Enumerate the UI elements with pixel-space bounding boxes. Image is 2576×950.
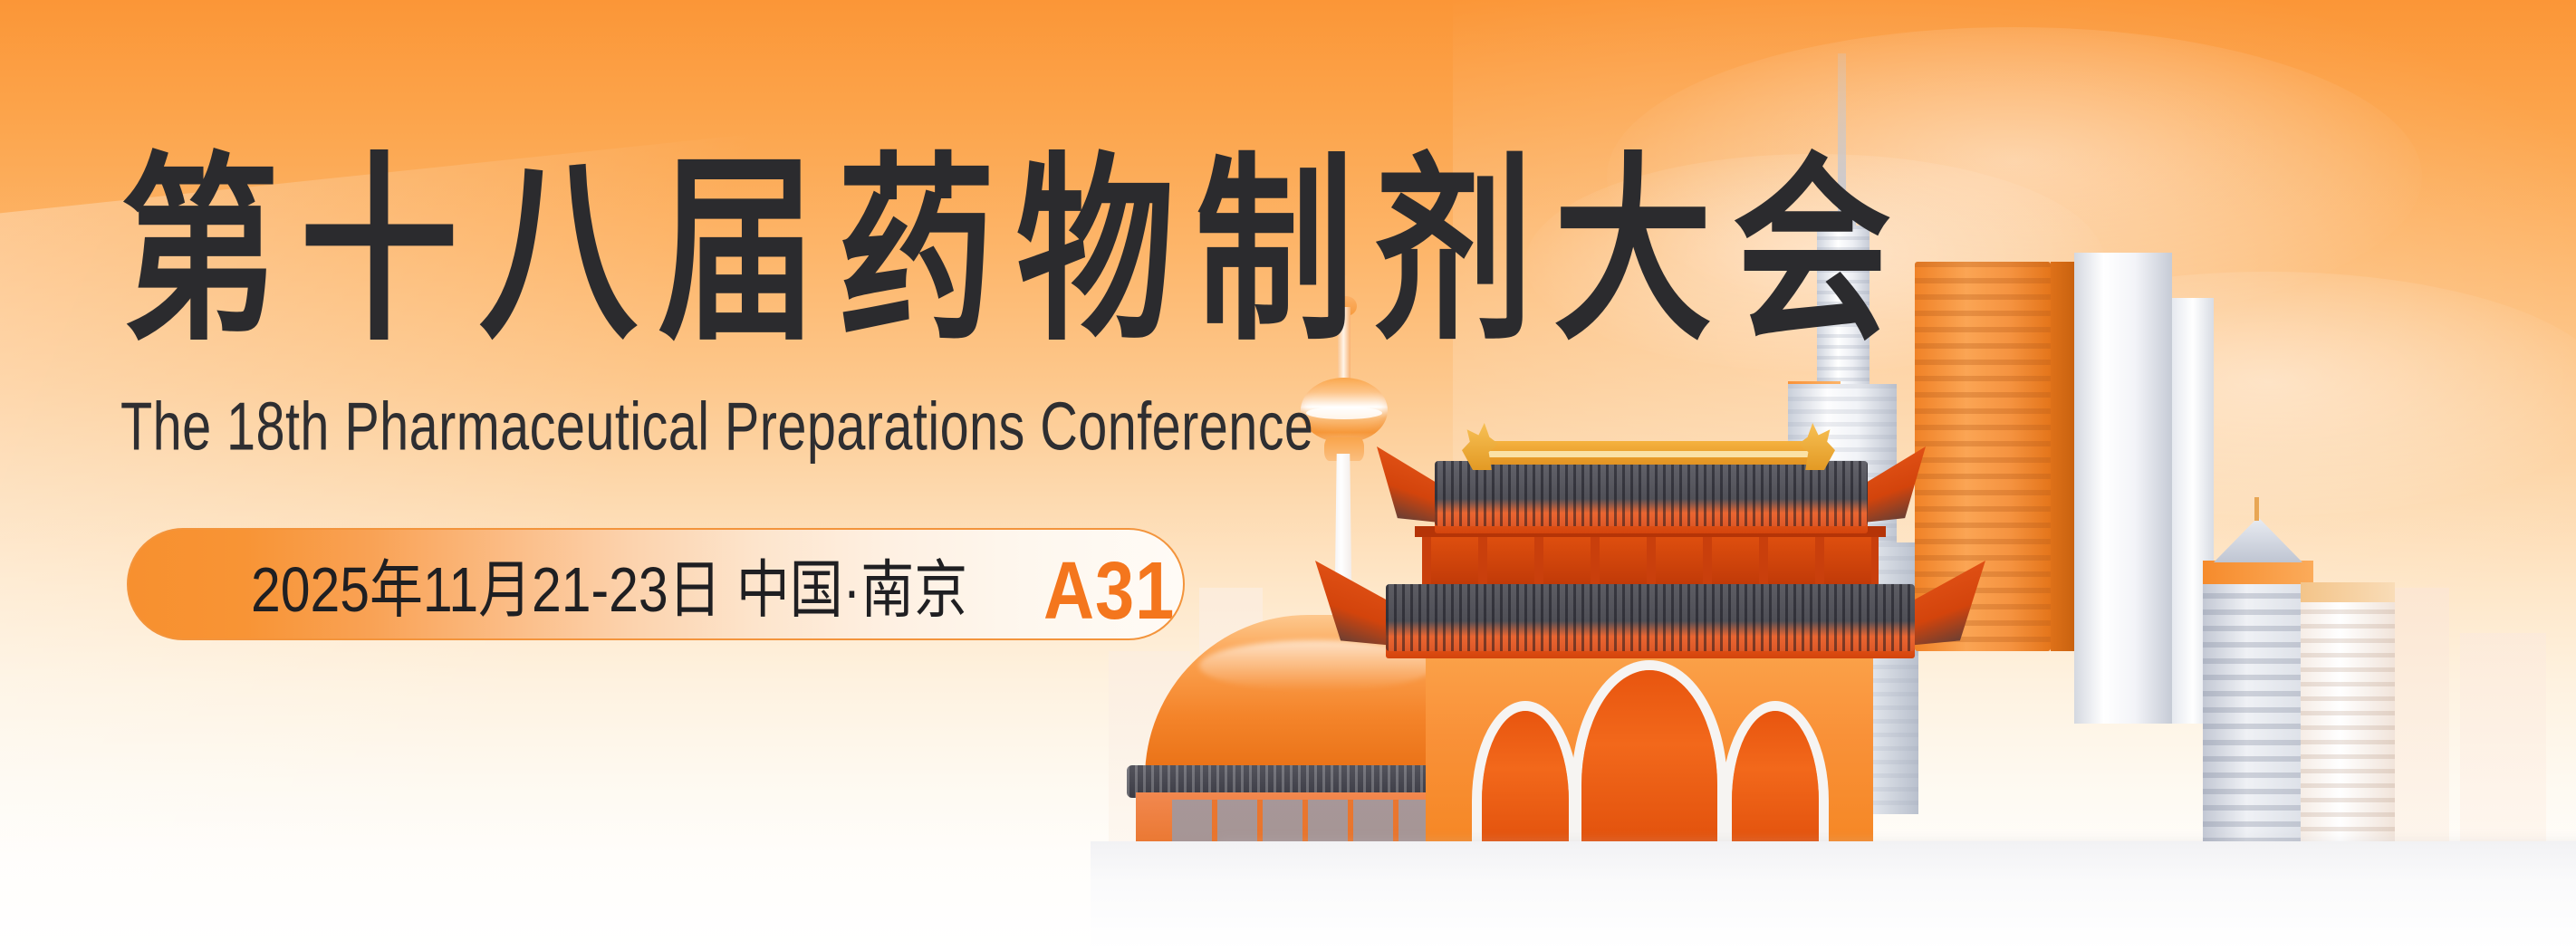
- background-building: [2460, 633, 2546, 850]
- right-dome-roof: [2150, 649, 2576, 791]
- page-subtitle: The 18th Pharmaceutical Preparations Con…: [120, 393, 1313, 461]
- white-tower: [2074, 253, 2172, 724]
- event-date-location-text: 2025年11月21-23日 中国·南京: [251, 539, 967, 630]
- background-building: [2350, 588, 2449, 850]
- cream-tower-cap: [2301, 582, 2395, 602]
- grey-tower-roof: [2214, 517, 2302, 562]
- temple-lower-eave-right: [1888, 561, 1985, 648]
- white-tower-slim: [2172, 298, 2214, 724]
- page-title: 第十八届药物制剂大会: [120, 152, 1912, 352]
- booth-number-text: A31展位: [1043, 528, 1185, 640]
- grey-tower-finial: [2254, 497, 2259, 521]
- conference-banner: 南京之城 第十八届药物制剂大会 The 18th Pharmaceuti: [0, 0, 2576, 950]
- grey-tower-cap: [2203, 561, 2313, 584]
- cream-tower: [2301, 595, 2395, 849]
- orange-tower-side: [2051, 262, 2074, 651]
- banner-text-block: 第十八届药物制剂大会 The 18th Pharmaceutical Prepa…: [0, 0, 1902, 950]
- cloud-shape: [1924, 272, 2576, 516]
- date-location-badge[interactable]: 2025年11月21-23日 中国·南京 A31展位: [127, 528, 1185, 640]
- orange-tower: [1915, 262, 2051, 651]
- grey-tower: [2203, 577, 2313, 849]
